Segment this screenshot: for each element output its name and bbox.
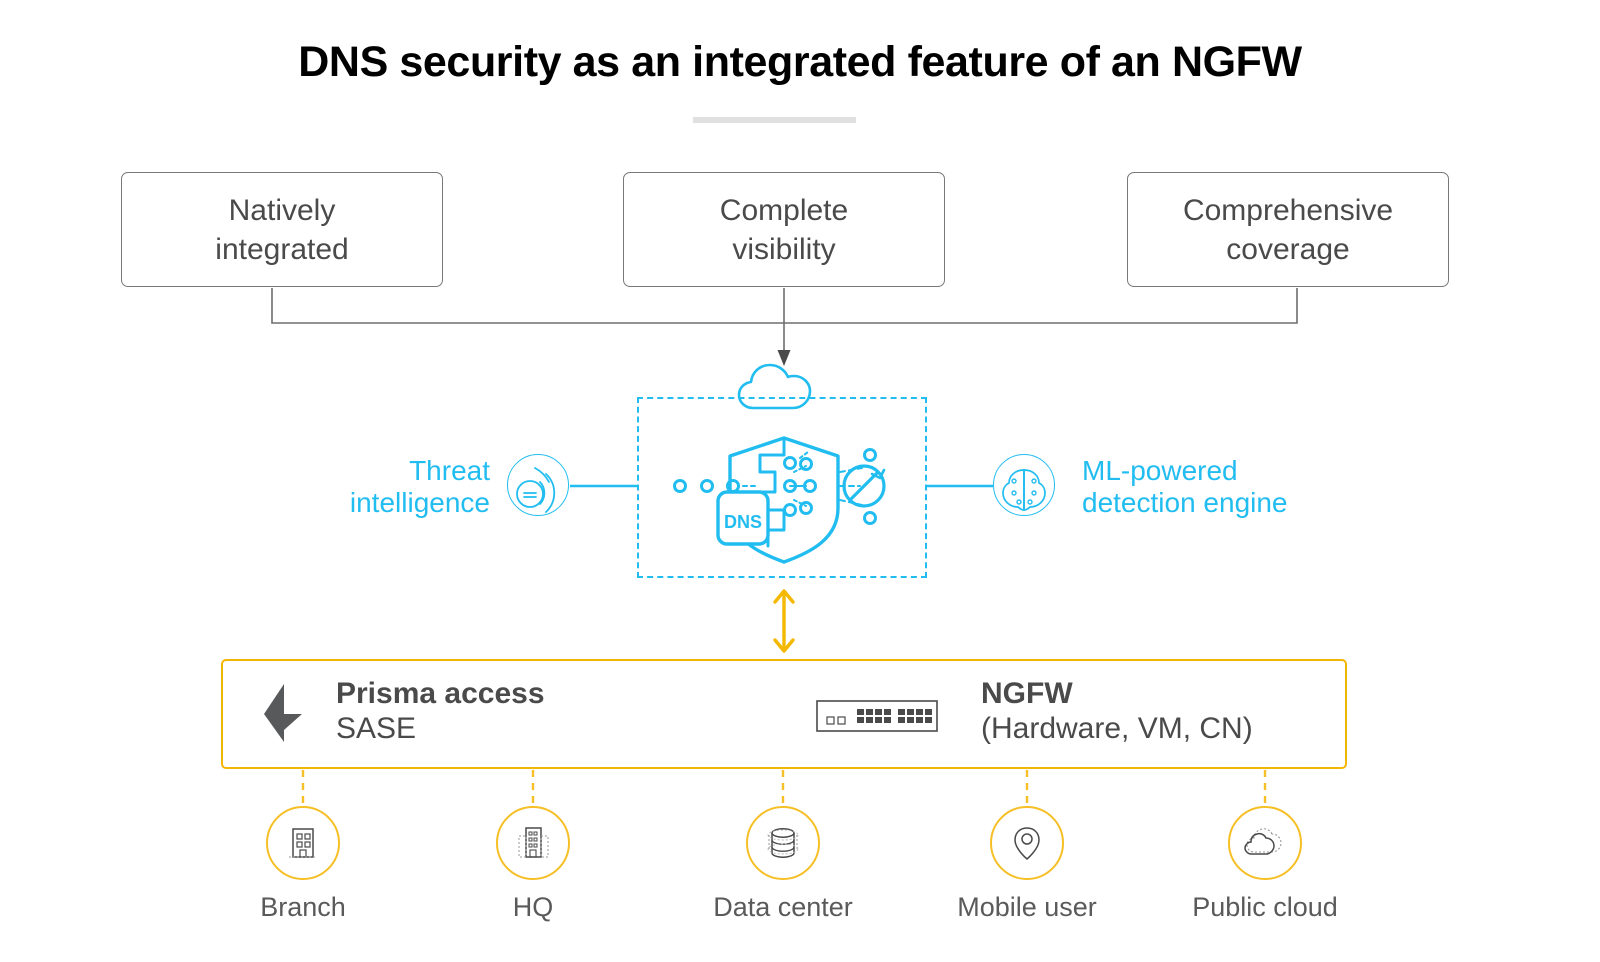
- dns-badge-label: DNS: [724, 512, 762, 532]
- endpoint-label: Mobile user: [947, 892, 1107, 923]
- network-node: [865, 513, 876, 524]
- firewall-appliance-icon: [816, 700, 938, 732]
- network-node: [801, 503, 812, 514]
- traffic-dot: [675, 481, 686, 492]
- endpoint-data-center[interactable]: Data center: [703, 806, 863, 923]
- threat-signal-icon-circle: [507, 454, 569, 516]
- prisma-logo-icon: [262, 682, 306, 744]
- prisma-text-block: Prisma access SASE: [336, 676, 545, 747]
- endpoint-label: HQ: [453, 892, 613, 923]
- endpoint-hq[interactable]: HQ: [453, 806, 613, 923]
- ngfw-subtitle: (Hardware, VM, CN): [981, 711, 1253, 746]
- ngfw-text-block: NGFW (Hardware, VM, CN): [981, 676, 1253, 747]
- brain-icon-circle: [993, 454, 1055, 516]
- endpoint-public-cloud[interactable]: Public cloud: [1185, 806, 1345, 923]
- endpoint-icon-circle: [990, 806, 1064, 880]
- ngfw-title: NGFW: [981, 676, 1253, 711]
- endpoint-icon-circle: [496, 806, 570, 880]
- network-node: [865, 450, 876, 461]
- ml-detection-engine-label: ML-powered detection engine: [1082, 455, 1412, 519]
- endpoint-icon-circle: [746, 806, 820, 880]
- traffic-dot: [702, 481, 713, 492]
- network-node: [801, 459, 812, 470]
- building-large-icon: [513, 823, 553, 863]
- map-pin-icon: [1010, 823, 1044, 863]
- endpoint-label: Data center: [703, 892, 863, 923]
- network-node: [785, 458, 796, 469]
- diagram-canvas: DNS security as an integrated feature of…: [0, 0, 1600, 962]
- endpoint-mobile-user[interactable]: Mobile user: [947, 806, 1107, 923]
- prisma-subtitle: SASE: [336, 711, 545, 746]
- cloud-icon: [739, 365, 810, 408]
- endpoint-label: Public cloud: [1185, 892, 1345, 923]
- database-icon: [761, 823, 805, 863]
- cloud-outline-icon: [1242, 826, 1288, 860]
- threat-intelligence-label: Threat intelligence: [300, 455, 490, 519]
- building-small-icon: [283, 823, 323, 863]
- endpoint-icon-circle: [1228, 806, 1302, 880]
- endpoint-stems: [303, 770, 1265, 806]
- endpoint-branch[interactable]: Branch: [223, 806, 383, 923]
- endpoint-label: Branch: [223, 892, 383, 923]
- prisma-title: Prisma access: [336, 676, 545, 711]
- endpoint-icon-circle: [266, 806, 340, 880]
- network-node: [785, 505, 796, 516]
